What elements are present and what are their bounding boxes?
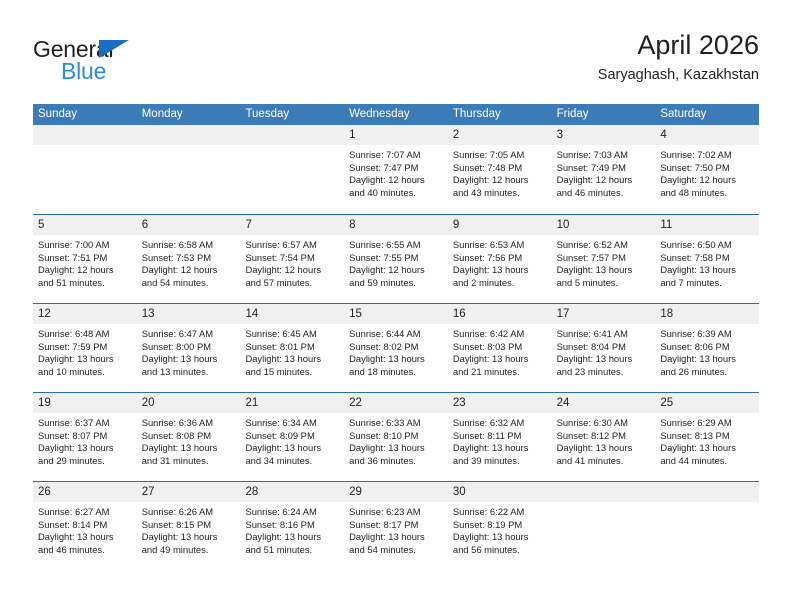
day-number: 1 <box>344 125 448 145</box>
day-number: 23 <box>448 393 552 413</box>
daylight-line-2: and 54 minutes. <box>142 277 236 290</box>
day-number: 6 <box>137 215 241 235</box>
day-cell[interactable]: 19Sunrise: 6:37 AMSunset: 8:07 PMDayligh… <box>33 393 137 481</box>
daylight-line-1: Daylight: 13 hours <box>453 353 547 366</box>
day-number: 12 <box>33 304 137 324</box>
sunset-line: Sunset: 7:55 PM <box>349 252 443 265</box>
day-cell[interactable]: 2Sunrise: 7:05 AMSunset: 7:48 PMDaylight… <box>448 125 552 214</box>
day-cell[interactable]: 9Sunrise: 6:53 AMSunset: 7:56 PMDaylight… <box>448 215 552 303</box>
day-number-band: 15 <box>344 304 448 324</box>
sunrise-line: Sunrise: 6:41 AM <box>557 328 651 341</box>
daylight-line-2: and 46 minutes. <box>38 544 132 557</box>
day-info: Sunrise: 6:23 AMSunset: 8:17 PMDaylight:… <box>344 502 448 556</box>
daylight-line-1: Daylight: 13 hours <box>349 353 443 366</box>
day-number: 15 <box>344 304 448 324</box>
sunset-line: Sunset: 8:01 PM <box>245 341 339 354</box>
daylight-line-1: Daylight: 13 hours <box>245 353 339 366</box>
sunset-line: Sunset: 8:02 PM <box>349 341 443 354</box>
sunrise-line: Sunrise: 6:53 AM <box>453 239 547 252</box>
sunrise-line: Sunrise: 6:44 AM <box>349 328 443 341</box>
sunset-line: Sunset: 8:12 PM <box>557 430 651 443</box>
daylight-line-1: Daylight: 12 hours <box>349 264 443 277</box>
sunrise-line: Sunrise: 6:24 AM <box>245 506 339 519</box>
daylight-line-1: Daylight: 13 hours <box>349 442 443 455</box>
daylight-line-2: and 48 minutes. <box>660 187 754 200</box>
sunset-line: Sunset: 7:57 PM <box>557 252 651 265</box>
day-number-band: 30 <box>448 482 552 502</box>
day-number-band: 26 <box>33 482 137 502</box>
day-cell-empty <box>137 125 241 214</box>
day-cell-empty <box>33 125 137 214</box>
sunrise-line: Sunrise: 6:22 AM <box>453 506 547 519</box>
sunrise-line: Sunrise: 6:48 AM <box>38 328 132 341</box>
daylight-line-2: and 23 minutes. <box>557 366 651 379</box>
sunrise-line: Sunrise: 6:57 AM <box>245 239 339 252</box>
weekday-sunday: Sunday <box>33 104 137 125</box>
day-cell-empty <box>240 125 344 214</box>
page-subtitle: Saryaghash, Kazakhstan <box>598 64 759 86</box>
day-number-band: 25 <box>655 393 759 413</box>
daylight-line-1: Daylight: 13 hours <box>245 531 339 544</box>
weekday-monday: Monday <box>137 104 241 125</box>
day-number-band <box>137 125 241 145</box>
day-number: 5 <box>33 215 137 235</box>
day-number-band: 23 <box>448 393 552 413</box>
sunrise-line: Sunrise: 6:30 AM <box>557 417 651 430</box>
day-number: 22 <box>344 393 448 413</box>
day-info: Sunrise: 7:03 AMSunset: 7:49 PMDaylight:… <box>552 145 656 199</box>
day-number: 4 <box>655 125 759 145</box>
day-number: 2 <box>448 125 552 145</box>
sunrise-line: Sunrise: 6:58 AM <box>142 239 236 252</box>
calendar-weeks: 1Sunrise: 7:07 AMSunset: 7:47 PMDaylight… <box>33 125 759 570</box>
daylight-line-2: and 34 minutes. <box>245 455 339 468</box>
daylight-line-1: Daylight: 13 hours <box>453 442 547 455</box>
page-title: April 2026 <box>598 28 759 62</box>
day-number-band: 4 <box>655 125 759 145</box>
day-info: Sunrise: 6:30 AMSunset: 8:12 PMDaylight:… <box>552 413 656 467</box>
day-info <box>33 145 137 149</box>
daylight-line-2: and 31 minutes. <box>142 455 236 468</box>
sunrise-line: Sunrise: 6:33 AM <box>349 417 443 430</box>
day-cell-empty <box>655 482 759 570</box>
day-cell[interactable]: 30Sunrise: 6:22 AMSunset: 8:19 PMDayligh… <box>448 482 552 570</box>
day-number-band: 20 <box>137 393 241 413</box>
day-number-band: 9 <box>448 215 552 235</box>
daylight-line-1: Daylight: 13 hours <box>38 353 132 366</box>
day-info: Sunrise: 6:47 AMSunset: 8:00 PMDaylight:… <box>137 324 241 378</box>
weekday-tuesday: Tuesday <box>240 104 344 125</box>
day-number-band: 14 <box>240 304 344 324</box>
day-cell[interactable]: 15Sunrise: 6:44 AMSunset: 8:02 PMDayligh… <box>344 304 448 392</box>
day-info: Sunrise: 6:53 AMSunset: 7:56 PMDaylight:… <box>448 235 552 289</box>
sunrise-line: Sunrise: 6:36 AM <box>142 417 236 430</box>
day-number-band: 16 <box>448 304 552 324</box>
day-number-band: 24 <box>552 393 656 413</box>
sunset-line: Sunset: 8:10 PM <box>349 430 443 443</box>
daylight-line-2: and 43 minutes. <box>453 187 547 200</box>
calendar-week-row: 26Sunrise: 6:27 AMSunset: 8:14 PMDayligh… <box>33 481 759 570</box>
daylight-line-2: and 10 minutes. <box>38 366 132 379</box>
daylight-line-1: Daylight: 12 hours <box>660 174 754 187</box>
day-number: 3 <box>552 125 656 145</box>
sunrise-line: Sunrise: 7:05 AM <box>453 149 547 162</box>
day-number-band: 2 <box>448 125 552 145</box>
day-cell[interactable]: 6Sunrise: 6:58 AMSunset: 7:53 PMDaylight… <box>137 215 241 303</box>
daylight-line-1: Daylight: 13 hours <box>142 531 236 544</box>
day-cell[interactable]: 3Sunrise: 7:03 AMSunset: 7:49 PMDaylight… <box>552 125 656 214</box>
daylight-line-1: Daylight: 13 hours <box>142 442 236 455</box>
day-info: Sunrise: 6:58 AMSunset: 7:53 PMDaylight:… <box>137 235 241 289</box>
sunset-line: Sunset: 8:11 PM <box>453 430 547 443</box>
day-info: Sunrise: 6:48 AMSunset: 7:59 PMDaylight:… <box>33 324 137 378</box>
sunrise-line: Sunrise: 6:55 AM <box>349 239 443 252</box>
day-number: 9 <box>448 215 552 235</box>
day-cell[interactable]: 28Sunrise: 6:24 AMSunset: 8:16 PMDayligh… <box>240 482 344 570</box>
daylight-line-2: and 13 minutes. <box>142 366 236 379</box>
day-number-band <box>33 125 137 145</box>
daylight-line-2: and 56 minutes. <box>453 544 547 557</box>
day-number: 21 <box>240 393 344 413</box>
daylight-line-2: and 21 minutes. <box>453 366 547 379</box>
daylight-line-2: and 18 minutes. <box>349 366 443 379</box>
daylight-line-2: and 26 minutes. <box>660 366 754 379</box>
day-number: 14 <box>240 304 344 324</box>
day-info: Sunrise: 6:39 AMSunset: 8:06 PMDaylight:… <box>655 324 759 378</box>
sunrise-line: Sunrise: 6:27 AM <box>38 506 132 519</box>
sunset-line: Sunset: 8:14 PM <box>38 519 132 532</box>
day-info <box>552 502 656 506</box>
day-cell[interactable]: 4Sunrise: 7:02 AMSunset: 7:50 PMDaylight… <box>655 125 759 214</box>
weekday-thursday: Thursday <box>448 104 552 125</box>
day-info: Sunrise: 6:55 AMSunset: 7:55 PMDaylight:… <box>344 235 448 289</box>
daylight-line-1: Daylight: 13 hours <box>557 353 651 366</box>
day-number-band: 10 <box>552 215 656 235</box>
sunset-line: Sunset: 7:47 PM <box>349 162 443 175</box>
day-number-band: 5 <box>33 215 137 235</box>
sunset-line: Sunset: 7:58 PM <box>660 252 754 265</box>
day-number: 10 <box>552 215 656 235</box>
day-info: Sunrise: 6:24 AMSunset: 8:16 PMDaylight:… <box>240 502 344 556</box>
sunset-line: Sunset: 8:15 PM <box>142 519 236 532</box>
day-number-band: 18 <box>655 304 759 324</box>
day-cell[interactable]: 13Sunrise: 6:47 AMSunset: 8:00 PMDayligh… <box>137 304 241 392</box>
sunrise-line: Sunrise: 6:50 AM <box>660 239 754 252</box>
day-cell[interactable]: 1Sunrise: 7:07 AMSunset: 7:47 PMDaylight… <box>344 125 448 214</box>
daylight-line-2: and 49 minutes. <box>142 544 236 557</box>
day-number-band: 1 <box>344 125 448 145</box>
weekday-friday: Friday <box>552 104 656 125</box>
day-cell[interactable]: 10Sunrise: 6:52 AMSunset: 7:57 PMDayligh… <box>552 215 656 303</box>
day-info: Sunrise: 6:27 AMSunset: 8:14 PMDaylight:… <box>33 502 137 556</box>
daylight-line-1: Daylight: 13 hours <box>557 264 651 277</box>
day-info: Sunrise: 7:07 AMSunset: 7:47 PMDaylight:… <box>344 145 448 199</box>
sunset-line: Sunset: 7:54 PM <box>245 252 339 265</box>
day-info: Sunrise: 7:00 AMSunset: 7:51 PMDaylight:… <box>33 235 137 289</box>
day-info: Sunrise: 7:05 AMSunset: 7:48 PMDaylight:… <box>448 145 552 199</box>
sunrise-line: Sunrise: 6:42 AM <box>453 328 547 341</box>
day-number: 16 <box>448 304 552 324</box>
day-number-band: 28 <box>240 482 344 502</box>
sunrise-line: Sunrise: 6:26 AM <box>142 506 236 519</box>
daylight-line-1: Daylight: 12 hours <box>557 174 651 187</box>
daylight-line-2: and 36 minutes. <box>349 455 443 468</box>
day-number: 28 <box>240 482 344 502</box>
day-info: Sunrise: 6:45 AMSunset: 8:01 PMDaylight:… <box>240 324 344 378</box>
day-cell[interactable]: 27Sunrise: 6:26 AMSunset: 8:15 PMDayligh… <box>137 482 241 570</box>
daylight-line-2: and 15 minutes. <box>245 366 339 379</box>
day-info: Sunrise: 6:32 AMSunset: 8:11 PMDaylight:… <box>448 413 552 467</box>
sunrise-line: Sunrise: 6:52 AM <box>557 239 651 252</box>
sunrise-line: Sunrise: 7:07 AM <box>349 149 443 162</box>
day-number-band: 3 <box>552 125 656 145</box>
daylight-line-1: Daylight: 13 hours <box>38 442 132 455</box>
day-number-band: 7 <box>240 215 344 235</box>
daylight-line-1: Daylight: 13 hours <box>349 531 443 544</box>
day-cell[interactable]: 16Sunrise: 6:42 AMSunset: 8:03 PMDayligh… <box>448 304 552 392</box>
day-info: Sunrise: 6:33 AMSunset: 8:10 PMDaylight:… <box>344 413 448 467</box>
daylight-line-2: and 2 minutes. <box>453 277 547 290</box>
calendar-week-row: 19Sunrise: 6:37 AMSunset: 8:07 PMDayligh… <box>33 392 759 481</box>
daylight-line-2: and 57 minutes. <box>245 277 339 290</box>
day-number: 20 <box>137 393 241 413</box>
brand-logo[interactable]: General Blue <box>33 36 233 88</box>
day-number-band: 27 <box>137 482 241 502</box>
day-number-band: 21 <box>240 393 344 413</box>
sunset-line: Sunset: 8:07 PM <box>38 430 132 443</box>
day-number: 8 <box>344 215 448 235</box>
day-cell[interactable]: 11Sunrise: 6:50 AMSunset: 7:58 PMDayligh… <box>655 215 759 303</box>
day-number-band <box>240 125 344 145</box>
sunset-line: Sunset: 8:03 PM <box>453 341 547 354</box>
day-cell[interactable]: 7Sunrise: 6:57 AMSunset: 7:54 PMDaylight… <box>240 215 344 303</box>
sunrise-line: Sunrise: 7:02 AM <box>660 149 754 162</box>
sunset-line: Sunset: 8:13 PM <box>660 430 754 443</box>
calendar-page: General Blue April 2026 Saryaghash, Kaza… <box>0 0 792 612</box>
weekday-saturday: Saturday <box>655 104 759 125</box>
daylight-line-1: Daylight: 12 hours <box>38 264 132 277</box>
daylight-line-2: and 39 minutes. <box>453 455 547 468</box>
sunrise-line: Sunrise: 7:03 AM <box>557 149 651 162</box>
daylight-line-1: Daylight: 12 hours <box>142 264 236 277</box>
day-info: Sunrise: 6:41 AMSunset: 8:04 PMDaylight:… <box>552 324 656 378</box>
day-number-band: 6 <box>137 215 241 235</box>
daylight-line-1: Daylight: 13 hours <box>245 442 339 455</box>
day-cell[interactable]: 25Sunrise: 6:29 AMSunset: 8:13 PMDayligh… <box>655 393 759 481</box>
daylight-line-1: Daylight: 13 hours <box>660 264 754 277</box>
weekday-header-row: Sunday Monday Tuesday Wednesday Thursday… <box>33 104 759 125</box>
day-number-band: 11 <box>655 215 759 235</box>
calendar-week-row: 1Sunrise: 7:07 AMSunset: 7:47 PMDaylight… <box>33 125 759 214</box>
day-number: 19 <box>33 393 137 413</box>
sunset-line: Sunset: 7:48 PM <box>453 162 547 175</box>
day-number-band: 17 <box>552 304 656 324</box>
sunset-line: Sunset: 7:51 PM <box>38 252 132 265</box>
calendar-grid: Sunday Monday Tuesday Wednesday Thursday… <box>33 104 759 570</box>
daylight-line-2: and 44 minutes. <box>660 455 754 468</box>
page-header: General Blue April 2026 Saryaghash, Kaza… <box>33 28 759 94</box>
daylight-line-1: Daylight: 13 hours <box>453 531 547 544</box>
daylight-line-1: Daylight: 13 hours <box>660 353 754 366</box>
daylight-line-2: and 51 minutes. <box>245 544 339 557</box>
daylight-line-1: Daylight: 13 hours <box>38 531 132 544</box>
day-cell[interactable]: 24Sunrise: 6:30 AMSunset: 8:12 PMDayligh… <box>552 393 656 481</box>
day-info: Sunrise: 6:42 AMSunset: 8:03 PMDaylight:… <box>448 324 552 378</box>
day-number-band <box>552 482 656 502</box>
day-info <box>655 502 759 506</box>
day-cell[interactable]: 18Sunrise: 6:39 AMSunset: 8:06 PMDayligh… <box>655 304 759 392</box>
day-number: 18 <box>655 304 759 324</box>
daylight-line-1: Daylight: 13 hours <box>557 442 651 455</box>
sunset-line: Sunset: 8:16 PM <box>245 519 339 532</box>
day-cell[interactable]: 17Sunrise: 6:41 AMSunset: 8:04 PMDayligh… <box>552 304 656 392</box>
day-number-band: 29 <box>344 482 448 502</box>
sunset-line: Sunset: 8:09 PM <box>245 430 339 443</box>
day-info <box>240 145 344 149</box>
day-info: Sunrise: 7:02 AMSunset: 7:50 PMDaylight:… <box>655 145 759 199</box>
day-cell[interactable]: 5Sunrise: 7:00 AMSunset: 7:51 PMDaylight… <box>33 215 137 303</box>
daylight-line-2: and 29 minutes. <box>38 455 132 468</box>
day-number-band: 19 <box>33 393 137 413</box>
sunrise-line: Sunrise: 7:00 AM <box>38 239 132 252</box>
sunset-line: Sunset: 8:19 PM <box>453 519 547 532</box>
day-number: 13 <box>137 304 241 324</box>
daylight-line-2: and 40 minutes. <box>349 187 443 200</box>
daylight-line-2: and 54 minutes. <box>349 544 443 557</box>
sunset-line: Sunset: 8:06 PM <box>660 341 754 354</box>
daylight-line-1: Daylight: 13 hours <box>660 442 754 455</box>
day-info <box>137 145 241 149</box>
triangle-icon <box>99 40 129 58</box>
day-number-band: 13 <box>137 304 241 324</box>
sunrise-line: Sunrise: 6:23 AM <box>349 506 443 519</box>
day-number: 30 <box>448 482 552 502</box>
day-info: Sunrise: 6:36 AMSunset: 8:08 PMDaylight:… <box>137 413 241 467</box>
daylight-line-2: and 41 minutes. <box>557 455 651 468</box>
daylight-line-2: and 46 minutes. <box>557 187 651 200</box>
day-cell[interactable]: 14Sunrise: 6:45 AMSunset: 8:01 PMDayligh… <box>240 304 344 392</box>
day-number: 24 <box>552 393 656 413</box>
day-cell[interactable]: 8Sunrise: 6:55 AMSunset: 7:55 PMDaylight… <box>344 215 448 303</box>
day-info: Sunrise: 6:22 AMSunset: 8:19 PMDaylight:… <box>448 502 552 556</box>
day-number: 29 <box>344 482 448 502</box>
sunrise-line: Sunrise: 6:47 AM <box>142 328 236 341</box>
daylight-line-2: and 59 minutes. <box>349 277 443 290</box>
day-info: Sunrise: 6:57 AMSunset: 7:54 PMDaylight:… <box>240 235 344 289</box>
day-number: 25 <box>655 393 759 413</box>
sunrise-line: Sunrise: 6:37 AM <box>38 417 132 430</box>
day-cell[interactable]: 23Sunrise: 6:32 AMSunset: 8:11 PMDayligh… <box>448 393 552 481</box>
sunset-line: Sunset: 8:04 PM <box>557 341 651 354</box>
daylight-line-2: and 5 minutes. <box>557 277 651 290</box>
brand-name-blue: Blue <box>61 58 106 85</box>
daylight-line-1: Daylight: 13 hours <box>453 264 547 277</box>
calendar-week-row: 12Sunrise: 6:48 AMSunset: 7:59 PMDayligh… <box>33 303 759 392</box>
day-info: Sunrise: 6:52 AMSunset: 7:57 PMDaylight:… <box>552 235 656 289</box>
day-number-band: 22 <box>344 393 448 413</box>
day-cell[interactable]: 12Sunrise: 6:48 AMSunset: 7:59 PMDayligh… <box>33 304 137 392</box>
sunrise-line: Sunrise: 6:34 AM <box>245 417 339 430</box>
weekday-wednesday: Wednesday <box>344 104 448 125</box>
day-number: 17 <box>552 304 656 324</box>
day-info: Sunrise: 6:44 AMSunset: 8:02 PMDaylight:… <box>344 324 448 378</box>
day-info: Sunrise: 6:50 AMSunset: 7:58 PMDaylight:… <box>655 235 759 289</box>
day-info: Sunrise: 6:34 AMSunset: 8:09 PMDaylight:… <box>240 413 344 467</box>
daylight-line-1: Daylight: 12 hours <box>349 174 443 187</box>
day-number-band: 12 <box>33 304 137 324</box>
title-block: April 2026 Saryaghash, Kazakhstan <box>598 28 759 86</box>
day-number: 11 <box>655 215 759 235</box>
day-number-band: 8 <box>344 215 448 235</box>
sunset-line: Sunset: 8:00 PM <box>142 341 236 354</box>
sunrise-line: Sunrise: 6:29 AM <box>660 417 754 430</box>
day-number: 7 <box>240 215 344 235</box>
daylight-line-1: Daylight: 13 hours <box>142 353 236 366</box>
day-cell[interactable]: 21Sunrise: 6:34 AMSunset: 8:09 PMDayligh… <box>240 393 344 481</box>
daylight-line-2: and 7 minutes. <box>660 277 754 290</box>
day-cell-empty <box>552 482 656 570</box>
calendar-week-row: 5Sunrise: 7:00 AMSunset: 7:51 PMDaylight… <box>33 214 759 303</box>
sunset-line: Sunset: 8:17 PM <box>349 519 443 532</box>
sunset-line: Sunset: 7:59 PM <box>38 341 132 354</box>
day-number-band <box>655 482 759 502</box>
daylight-line-1: Daylight: 12 hours <box>245 264 339 277</box>
day-info: Sunrise: 6:29 AMSunset: 8:13 PMDaylight:… <box>655 413 759 467</box>
sunrise-line: Sunrise: 6:32 AM <box>453 417 547 430</box>
sunset-line: Sunset: 7:56 PM <box>453 252 547 265</box>
day-cell[interactable]: 26Sunrise: 6:27 AMSunset: 8:14 PMDayligh… <box>33 482 137 570</box>
sunset-line: Sunset: 7:53 PM <box>142 252 236 265</box>
day-cell[interactable]: 20Sunrise: 6:36 AMSunset: 8:08 PMDayligh… <box>137 393 241 481</box>
day-number: 26 <box>33 482 137 502</box>
day-info: Sunrise: 6:37 AMSunset: 8:07 PMDaylight:… <box>33 413 137 467</box>
day-cell[interactable]: 29Sunrise: 6:23 AMSunset: 8:17 PMDayligh… <box>344 482 448 570</box>
sunset-line: Sunset: 7:49 PM <box>557 162 651 175</box>
sunrise-line: Sunrise: 6:39 AM <box>660 328 754 341</box>
daylight-line-2: and 51 minutes. <box>38 277 132 290</box>
daylight-line-1: Daylight: 12 hours <box>453 174 547 187</box>
sunset-line: Sunset: 7:50 PM <box>660 162 754 175</box>
day-cell[interactable]: 22Sunrise: 6:33 AMSunset: 8:10 PMDayligh… <box>344 393 448 481</box>
sunset-line: Sunset: 8:08 PM <box>142 430 236 443</box>
day-number: 27 <box>137 482 241 502</box>
sunrise-line: Sunrise: 6:45 AM <box>245 328 339 341</box>
day-info: Sunrise: 6:26 AMSunset: 8:15 PMDaylight:… <box>137 502 241 556</box>
